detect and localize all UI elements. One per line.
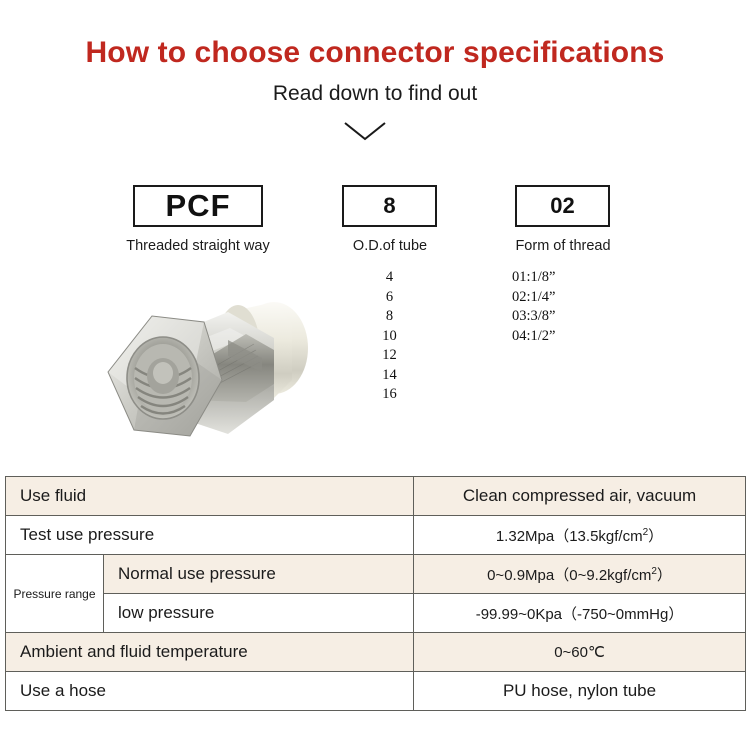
spec-value-ambient-temperature: 0~60℃: [414, 633, 746, 672]
page-subtitle: Read down to find out: [0, 82, 750, 106]
spec-label-test-use-pressure: Test use pressure: [6, 516, 414, 555]
code-box-series: PCF: [133, 185, 263, 227]
option-item: 03:3/8”: [512, 307, 622, 327]
spec-value-normal-use-pressure: 0~0.9Mpa（0~9.2kgf/cm2）: [414, 555, 746, 594]
table-row: Use fluid Clean compressed air, vacuum: [6, 477, 746, 516]
code-caption-tube-od: O.D.of tube: [330, 238, 450, 254]
table-row: Test use pressure 1.32Mpa（13.5kgf/cm2）: [6, 516, 746, 555]
spec-value-use-a-hose: PU hose, nylon tube: [414, 672, 746, 711]
value-text: 0~0.9Mpa（0~9.2kgf/cm: [487, 567, 651, 584]
option-list-tube-od: 4 6 8 10 12 14 16: [342, 268, 437, 405]
spec-value-use-fluid: Clean compressed air, vacuum: [414, 477, 746, 516]
option-item: 10: [342, 327, 437, 347]
paren: ）: [657, 567, 672, 584]
table-row: Ambient and fluid temperature 0~60℃: [6, 633, 746, 672]
option-item: 16: [342, 385, 437, 405]
value-text: 1.32Mpa（13.5kgf/cm: [496, 528, 643, 545]
paren: ）: [648, 528, 663, 545]
option-item: 12: [342, 346, 437, 366]
product-photo-fitting: [78, 276, 328, 471]
spec-value-test-use-pressure: 1.32Mpa（13.5kgf/cm2）: [414, 516, 746, 555]
code-caption-thread-form: Form of thread: [500, 238, 626, 254]
table-row: Pressure range Normal use pressure 0~0.9…: [6, 555, 746, 594]
specification-table: Use fluid Clean compressed air, vacuum T…: [5, 476, 746, 711]
chevron-down-icon: [343, 120, 387, 142]
table-row: low pressure -99.99~0Kpa（-750~0mmHg）: [6, 594, 746, 633]
option-item: 4: [342, 268, 437, 288]
table-row: Use a hose PU hose, nylon tube: [6, 672, 746, 711]
option-item: 8: [342, 307, 437, 327]
spec-label-normal-use-pressure: Normal use pressure: [104, 555, 414, 594]
spec-label-low-pressure: low pressure: [104, 594, 414, 633]
option-item: 02:1/4”: [512, 288, 622, 308]
spec-label-use-a-hose: Use a hose: [6, 672, 414, 711]
spec-label-use-fluid: Use fluid: [6, 477, 414, 516]
product-spec-page: How to choose connector specifications R…: [0, 0, 750, 750]
spec-group-label-pressure-range: Pressure range: [6, 555, 104, 633]
option-item: 04:1/2”: [512, 327, 622, 347]
code-box-thread-form: 02: [515, 185, 610, 227]
spec-label-ambient-temperature: Ambient and fluid temperature: [6, 633, 414, 672]
option-item: 01:1/8”: [512, 268, 622, 288]
code-caption-series: Threaded straight way: [113, 238, 283, 254]
option-item: 14: [342, 366, 437, 386]
spec-value-low-pressure: -99.99~0Kpa（-750~0mmHg）: [414, 594, 746, 633]
code-box-tube-od: 8: [342, 185, 437, 227]
page-title: How to choose connector specifications: [0, 36, 750, 70]
option-list-thread-form: 01:1/8” 02:1/4” 03:3/8” 04:1/2”: [512, 268, 622, 346]
option-item: 6: [342, 288, 437, 308]
